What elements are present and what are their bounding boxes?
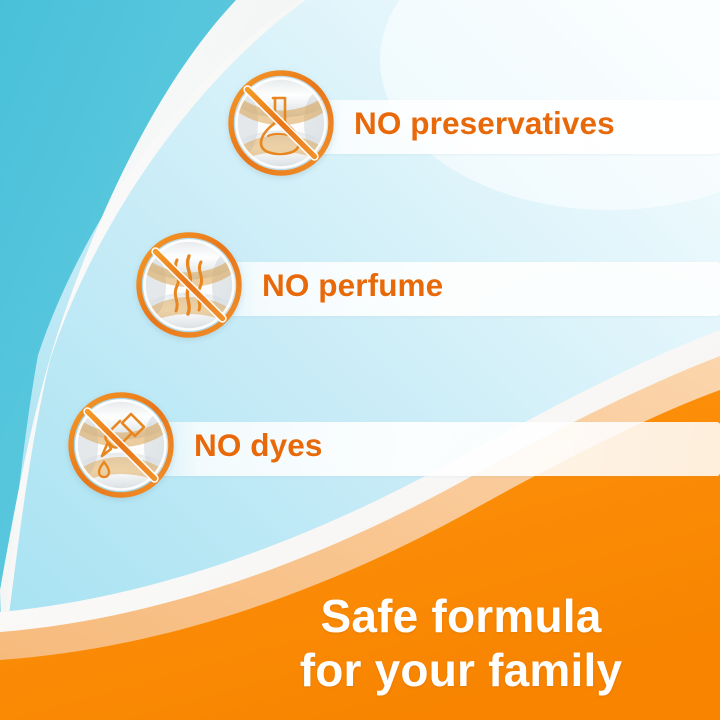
product-claims-poster: NO preservatives [0, 0, 720, 720]
claim-row-perfume: NO perfume [130, 226, 443, 344]
headline-line-1: Safe formula [226, 590, 696, 644]
headline-line-2: for your family [226, 644, 696, 698]
claim-label-perfume: NO perfume [262, 267, 443, 304]
claim-row-preservatives: NO preservatives [222, 64, 615, 182]
headline: Safe formula for your family [226, 590, 696, 698]
claim-label-preservatives: NO preservatives [354, 105, 615, 142]
scent-waves-icon [130, 226, 248, 344]
claim-row-dyes: NO dyes [62, 386, 323, 504]
claim-label-dyes: NO dyes [194, 427, 323, 464]
dropper-icon [62, 386, 180, 504]
flask-icon [222, 64, 340, 182]
